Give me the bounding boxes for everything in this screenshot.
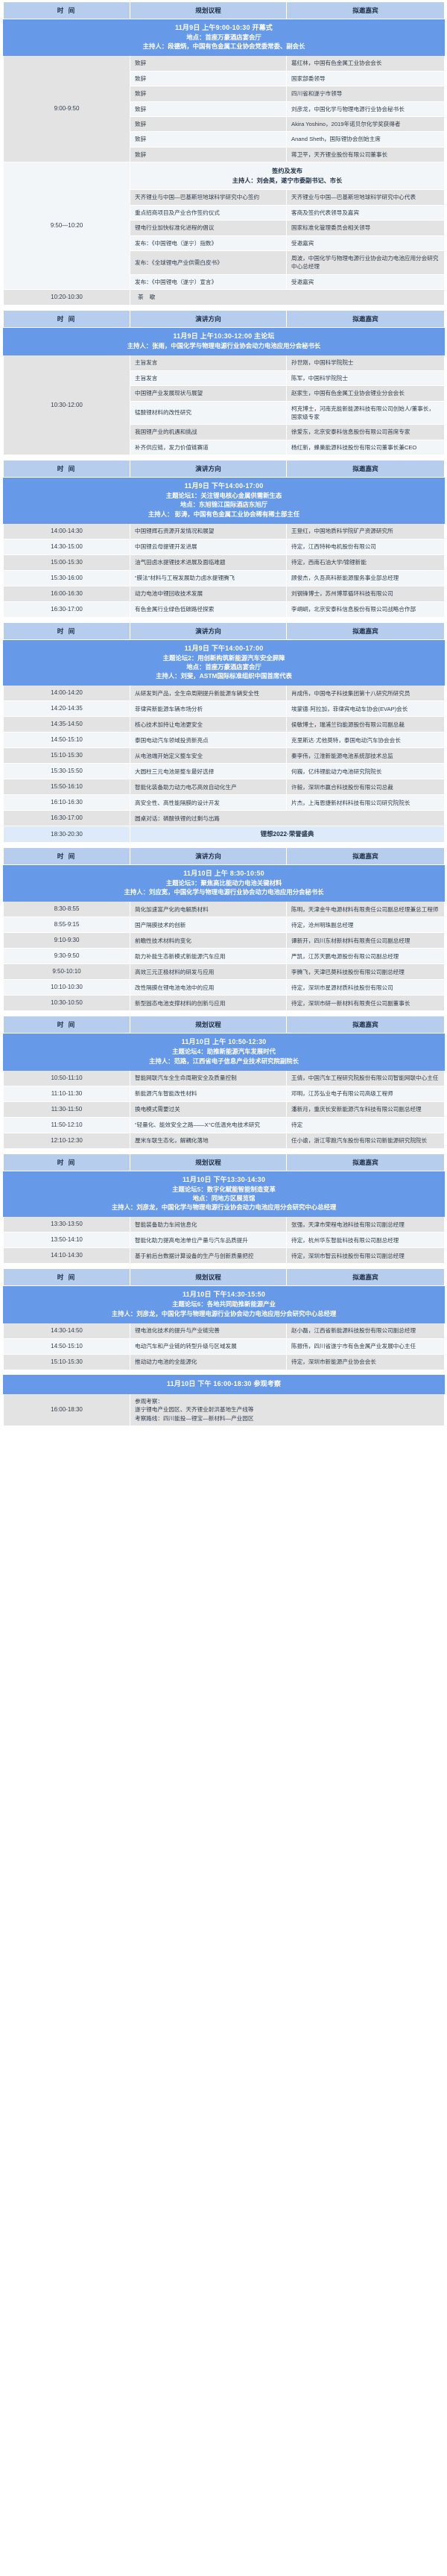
cell-guest: 待定，深圳市智云科技股份有限公司副总经理: [287, 1248, 445, 1264]
table-row: 15:50-16:10 智能化装备助力动力电芯高效自动化生产 许毅，深圳市赢合科…: [4, 779, 445, 795]
cell-guest: 待定: [287, 1117, 445, 1133]
cell-time: 9:50-10:10: [4, 964, 130, 980]
section-table-forum-1: 11月9日 下午14:00-17:00 主题论坛1：关注锂电核心金属供需新生态 …: [3, 460, 445, 618]
table-row: 10:30-12:00 主旨发言 孙世刚，中国科学院院士: [4, 355, 445, 370]
cell-topic: 基于前后台数据计算设备的生产与创新质量把控: [130, 1248, 287, 1264]
cell-guest: 克里斯达·尤他莫特，泰国电动汽车协会会长: [287, 732, 445, 748]
table-row: 16:00-16:30 动力电池中锂回收技术发展 刘钢锋博士，苏州博萃循环科技有…: [4, 586, 445, 601]
section-table-forum-2: 11月9日 下午14:00-17:00 主题论坛2：用创新构筑新能源汽车安全屏障…: [3, 622, 445, 843]
cell-topic: 重点招商项目及产业合作签约仪式: [130, 205, 287, 220]
table-row: 10:10-10:30 改性隔膜在锂电池电池中的应用 待定，深圳市星源材质科技股…: [4, 980, 445, 996]
section-table-forum-4: 11月10日 上午 10:50-12:30 主题论坛4：助推新能源汽车发展时代 …: [3, 1016, 445, 1148]
table-row: 15:10-15:30 推动动力电池的全能源化 待定，深圳市新能源产业协会会长: [4, 1354, 445, 1370]
cell-guest: 张强，天津市荣程电池科技有限公司副总经理: [287, 1217, 445, 1232]
cell-topic: 天齐锂业与中国—巴基斯坦地球科学研究中心签约: [130, 190, 287, 205]
cell-time: 10:50-11:10: [4, 1070, 130, 1086]
cell-time: 16:30-17:00: [4, 601, 130, 617]
column-header-topic: 演讲方向: [130, 461, 287, 478]
section-table-forum-6: 11月10日 下午14:30-15:50 主题论坛6：各地共同助推新能源产业 主…: [3, 1268, 445, 1370]
cell-guest: 潘新月，重庆长安新能源汽车科技有限公司副总经理: [287, 1101, 445, 1117]
cell-guest: 待定，沧州明珠副总经理: [287, 917, 445, 933]
cell-guest: 陈明，天津金牛电源材料有限责任公司副总经理兼总工程师: [287, 902, 445, 917]
cell-topic: 中国锂云母提锂开发进展: [130, 539, 287, 554]
band-line-title: 11月10日 下午 16:00-18:30 参观考察: [8, 1379, 440, 1389]
cell-guest: 待定，杭州华东智能科技有限公司副总经理: [287, 1232, 445, 1248]
band-line-subtitle: 主题论坛6：各地共同助推新能源产业: [8, 1300, 440, 1308]
cell-guest: 任小谕，浙江零跑汽车股份有限公司新能源研究院院长: [287, 1133, 445, 1148]
cell-topic: 换电模式需要过关: [130, 1101, 287, 1117]
cell-guest: 王登红，中国地质科学院矿产资源研究所: [287, 523, 445, 539]
cell-topic: 主旨发言: [130, 355, 287, 370]
column-header-guest: 拟邀嘉宾: [287, 1016, 445, 1034]
cell-topic: 致辞: [130, 147, 287, 162]
column-header-time: 时 间: [4, 622, 130, 639]
cell-time: 14:20-14:35: [4, 701, 130, 717]
cell-guest: 蒋卫平，天齐锂业股份有限公司董事长: [287, 147, 445, 162]
cell-guest: 柯克博士，河南克能新能源科技有限公司创始人/董事长，国家级专家: [287, 401, 445, 425]
cell-time: 9:30-9:50: [4, 949, 130, 964]
cell-guest: 侯敏博士，瑞浦兰钧能源股份有限公司副总裁: [287, 717, 445, 732]
cell-topic: 改性隔膜在锂电池电池中的应用: [130, 980, 287, 996]
band-line-host: 主持人：范路，江西省电子信息产业技术研究院副院长: [8, 1057, 440, 1066]
cell-time: 14:50-15:10: [4, 1338, 130, 1354]
cell-topic: 主旨发言: [130, 370, 287, 385]
cell-time: 15:00-15:30: [4, 554, 130, 570]
band-line-title: 11月10日 上午 8:30-10:50: [8, 869, 440, 879]
cell-topic: 致辞: [130, 71, 287, 86]
band-line-title: 11月9日 上午9:00-10:30 开幕式: [8, 23, 440, 33]
column-header-agenda: 规划议程: [130, 2, 287, 19]
table-row: 15:30-16:00 “膜法”材料与工程发展助力卤水提锂腾飞 顾俊杰，久吾高科…: [4, 570, 445, 586]
section-table-forum-3: 11月10日 上午 8:30-10:50 主题论坛3：聚焦高比能动力电池关键材料…: [3, 847, 445, 1011]
cell-guest: 顾俊杰，久吾高科新能源服务事业部总经理: [287, 570, 445, 586]
cell-topic: 厘米车联生态化，解耦化落地: [130, 1133, 287, 1148]
cell-guest: 待定，深圳市研一新材料有限责任公司副董事长: [287, 996, 445, 1011]
cell-topic: 致辞: [130, 116, 287, 131]
column-header-time: 时 间: [4, 1016, 130, 1034]
table-row: 14:35-14:50 核心技术加持让电池更安全 侯敏博士，瑞浦兰钧能源股份有限…: [4, 717, 445, 732]
band-line-host: 主持人： 彭涛，中国有色金属工业协会稀有稀土部主任: [8, 510, 440, 519]
table-row: 14:20-14:35 菲律宾新能源车辆市场分析 埃蒙德·阿拉加，菲律宾电动车协…: [4, 701, 445, 717]
table-row: 11:30-11:50 换电模式需要过关 潘新月，重庆长安新能源汽车科技有限公司…: [4, 1101, 445, 1117]
cell-topic: 从研发到产品，全生命周期提升新能源车辆安全性: [130, 686, 287, 701]
band-line-subtitle: 主题论坛5：数字化赋能智能制造变革: [8, 1185, 440, 1194]
band-line-subtitle: 主题论坛2：用创新构筑新能源汽车安全屏障: [8, 654, 440, 662]
cell-guest: Akira Yoshino，2019年诺贝尔化学奖获得者: [287, 116, 445, 131]
band-line-host: 主持人：刘彦龙，中国化学与物理电源行业协会动力电池应用分会研究中心总经理: [8, 1203, 440, 1212]
cell-topic: 前瞻性技术材料的变化: [130, 933, 287, 949]
cell-time: 16:00-16:30: [4, 586, 130, 601]
cell-topic: 从电池端开始定义整车安全: [130, 748, 287, 764]
cell-guest: 杨红新，蜂巢能源科技股份有限公司董事长兼CEO: [287, 440, 445, 455]
cell-topic: 智能化助力提高电池单位产量与汽车品质提升: [130, 1232, 287, 1248]
cell-topic: 发布：《中国锂电（遂宁）宣言》: [130, 274, 287, 289]
column-header-guest: 拟邀嘉宾: [287, 1269, 445, 1286]
cell-topic: 发布：《全球锂电产业供需白皮书》: [130, 250, 287, 274]
table-row: 16:30-17:00 圆桌对话：磷酸铁锂的过剩与出路: [4, 811, 445, 826]
cell-topic: 智能化装备助力动力电芯高效自动化生产: [130, 779, 287, 795]
cell-topic: 锂电池化技术的提升与产业链完善: [130, 1323, 287, 1338]
cell-topic: 圆桌对话：磷酸铁锂的过剩与出路: [130, 811, 445, 826]
band-line-venue: 地点：同地方区展览馆: [8, 1194, 440, 1203]
band-line-host: 主持人：刘彦龙，中国化学与物理电源行业协会动力电池应用分会研究中心总经理: [8, 1309, 440, 1318]
cell-guest: 待定，深圳市新能源产业协会会长: [287, 1354, 445, 1370]
band-line-subtitle: 主题论坛4：助推新能源汽车发展时代: [8, 1047, 440, 1056]
table-row: 13:50-14:10 智能化助力提高电池单位产量与汽车品质提升 待定，杭州华东…: [4, 1232, 445, 1248]
column-header-agenda: 规划议程: [130, 1269, 287, 1286]
cell-guest: 孙世刚，中国科学院院士: [287, 355, 445, 370]
cell-topic: 核心技术加持让电池更安全: [130, 717, 287, 732]
cell-guest: 客商及签约代表领导及嘉宾: [287, 205, 445, 220]
table-row: 14:30-14:50 锂电池化技术的提升与产业链完善 赵小磊，江西省新能源科技…: [4, 1323, 445, 1338]
column-header-guest: 拟邀嘉宾: [287, 461, 445, 478]
section-band-site-visit: 11月10日 下午 16:00-18:30 参观考察: [4, 1375, 445, 1393]
cell-topic: “轻量化、能效安全之路——X°C低温充电技术研究: [130, 1117, 287, 1133]
band-line-subtitle: 主题论坛3：聚焦高比能动力电池关键材料: [8, 879, 440, 887]
section-band-forum-6: 11月10日 下午14:30-15:50 主题论坛6：各地共同助推新能源产业 主…: [4, 1286, 445, 1323]
column-header-time: 时 间: [4, 1153, 130, 1171]
cell-time: 14:10-14:30: [4, 1248, 130, 1264]
table-row: 13:30-13:50 智能装备助力车间信息化 张强，天津市荣程电池科技有限公司…: [4, 1217, 445, 1232]
table-row-gala: 18:30-20:30 锂想2022·荣誉盛典: [4, 826, 445, 843]
table-row: 14:00-14:30 中国锂辉石资源开发情况和展望 王登红，中国地质科学院矿产…: [4, 523, 445, 539]
table-row: 9:30-9:50 助力补能生态新模式新能源汽车应用 严凯，江苏天鹏电源股份有限…: [4, 949, 445, 964]
cell-guest: 刘彦龙，中国化学与物理电源行业协会秘书长: [287, 101, 445, 116]
band-line-subtitle: 主题论坛1：关注锂电核心金属供需新生态: [8, 491, 440, 500]
cell-time: 12:10-12:30: [4, 1133, 130, 1148]
cell-guest: 李峒峒，北京安泰科信息股份有限公司战略合作部: [287, 601, 445, 617]
table-row: 14:50-15:10 泰国电动汽车领域投资新亮点 克里斯达·尤他莫特，泰国电动…: [4, 732, 445, 748]
table-row: 9:00-9:50 致辞 葛红林，中国有色金属工业协会会长: [4, 56, 445, 71]
cell-time: 8:55-9:15: [4, 917, 130, 933]
cell-topic: 菲律宾新能源车辆市场分析: [130, 701, 287, 717]
table-row: 10:50-11:10 智能网联汽车全生命周期安全及质量控制 王倩，中国汽车工程…: [4, 1070, 445, 1086]
cell-guest: 待定，西南石油大学/锦锂新能: [287, 554, 445, 570]
cell-guest: 徐爱东，北京安泰科信息股份有限公司首席专家: [287, 425, 445, 440]
cell-time: 9:50—10:20: [4, 162, 130, 290]
table-row: 12:10-12:30 厘米车联生态化，解耦化落地 任小谕，浙江零跑汽车股份有限…: [4, 1133, 445, 1148]
band-line-title: 11月10日 下午13:30-14:30: [8, 1175, 440, 1185]
cell-topic: 简化加速富产化的电解质材料: [130, 902, 287, 917]
cell-topic: 新型固态电池支撑材料的创新与应用: [130, 996, 287, 1011]
cell-topic: 电动汽车和产业链的转型升级与区域发展: [130, 1338, 287, 1354]
column-header-time: 时 间: [4, 847, 130, 864]
band-line-title: 11月9日 下午14:00-17:00: [8, 644, 440, 654]
cell-guest: 邓明，江苏弘业电子有限公司高级工程师: [287, 1086, 445, 1101]
cell-time: 14:30-15:00: [4, 539, 130, 554]
column-header-time: 时 间: [4, 2, 130, 19]
cell-time: 8:30-8:55: [4, 902, 130, 917]
cell-topic: 中国锂辉石资源开发情况和展望: [130, 523, 287, 539]
table-row: 16:30-17:00 有色金属行业绿色低碳路径探索 李峒峒，北京安泰科信息股份…: [4, 601, 445, 617]
column-header-guest: 拟邀嘉宾: [287, 1153, 445, 1171]
table-row: 8:30-8:55 简化加速富产化的电解质材料 陈明，天津金牛电源材料有限责任公…: [4, 902, 445, 917]
cell-time: 14:00-14:30: [4, 523, 130, 539]
cell-topic: 高效三元正极材料的研发与应用: [130, 964, 287, 980]
cell-topic: 锂电行业加快标准化进程的倡议: [130, 221, 287, 235]
table-row: 15:30-15:50 大圆柱三元电池是整车最好选择 何巍，亿纬锂能动力电池研究…: [4, 764, 445, 779]
column-header-time: 时 间: [4, 1269, 130, 1286]
cell-time: 15:50-16:10: [4, 779, 130, 795]
column-header-agenda: 规划议程: [130, 1153, 287, 1171]
section-band-forum-1: 11月9日 下午14:00-17:00 主题论坛1：关注锂电核心金属供需新生态 …: [4, 478, 445, 524]
band-line-host: 主持人：段德炳，中国有色金属工业协会党委常委、副会长: [8, 42, 440, 51]
cell-time: 14:00-14:20: [4, 686, 130, 701]
conference-agenda: 11月9日 上午9:00-10:30 开幕式 地点：首座万豪酒店宴会厅 主持人：…: [0, 0, 447, 1431]
section-table-forum-5: 11月10日 下午13:30-14:30 主题论坛5：数字化赋能智能制造变革 地…: [3, 1153, 445, 1265]
cell-topic: 致辞: [130, 132, 287, 147]
cell-time: 9:10-9:30: [4, 933, 130, 949]
cell-topic: 发布：《中国锂电（遂宁）指数》: [130, 235, 287, 250]
column-header-topic: 演讲方向: [130, 311, 287, 328]
cell-topic: 助力补能生态新模式新能源汽车应用: [130, 949, 287, 964]
column-header-guest: 拟邀嘉宾: [287, 622, 445, 639]
cell-time: 10:30-10:50: [4, 996, 130, 1011]
cell-guest: 天齐锂业与中国—巴基斯坦地球科学研究中心代表: [287, 190, 445, 205]
cell-break-label: 茶 歇: [130, 290, 445, 306]
band-line-title: 11月9日 下午14:00-17:00: [8, 481, 440, 491]
section-band-forum-5: 11月10日 下午13:30-14:30 主题论坛5：数字化赋能智能制造变革 地…: [4, 1171, 445, 1217]
cell-guest: 葛红林，中国有色金属工业协会会长: [287, 56, 445, 71]
cell-topic: 泰国电动汽车领域投资新亮点: [130, 732, 287, 748]
band-line-host: 主持人：刘斐，ASTM国际标准组织中国首席代表: [8, 671, 440, 680]
band-line-title: 11月9日 上午10:30-12:00 主论坛: [8, 332, 440, 341]
cell-time: 14:35-14:50: [4, 717, 130, 732]
cell-guest: 许毅，深圳市赢合科技股份有限公司总裁: [287, 779, 445, 795]
cell-time: 15:30-16:00: [4, 570, 130, 586]
cell-guest: Anand Sheth，国际锂协会创始主席: [287, 132, 445, 147]
cell-topic: 有色金属行业绿色低碳路径探索: [130, 601, 287, 617]
cell-topic: 致辞: [130, 101, 287, 116]
cell-topic: 智能装备助力车间信息化: [130, 1217, 287, 1232]
cell-topic: 我国锂产业的机遇和挑战: [130, 425, 287, 440]
cell-time: 16:30-17:00: [4, 811, 130, 826]
cell-gala-label: 锂想2022·荣誉盛典: [130, 826, 445, 843]
section-table-opening: 11月9日 上午9:00-10:30 开幕式 地点：首座万豪酒店宴会厅 主持人：…: [3, 1, 445, 306]
section-band-opening: 11月9日 上午9:00-10:30 开幕式 地点：首座万豪酒店宴会厅 主持人：…: [4, 19, 445, 56]
table-row: 14:50-15:10 电动汽车和产业链的转型升级与区域发展 陈振伟，四川省遂宁…: [4, 1338, 445, 1354]
section-band-forum-3: 11月10日 上午 8:30-10:50 主题论坛3：聚焦高比能动力电池关键材料…: [4, 864, 445, 901]
cell-topic: 动力电池中锂回收技术发展: [130, 586, 287, 601]
column-header-guest: 拟邀嘉宾: [287, 311, 445, 328]
cell-time: 10:10-10:30: [4, 980, 130, 996]
cell-guest: 受邀嘉宾: [287, 235, 445, 250]
column-header-time: 时 间: [4, 461, 130, 478]
column-header-topic: 演讲方向: [130, 847, 287, 864]
cell-time: 16:10-16:30: [4, 795, 130, 811]
table-row: 15:00-15:30 油气田卤水提锂技术进展及面临难题 待定，西南石油大学/锦…: [4, 554, 445, 570]
cell-topic: 大圆柱三元电池是整车最好选择: [130, 764, 287, 779]
table-row: 11:50-12:10 “轻量化、能效安全之路——X°C低温充电技术研究 待定: [4, 1117, 445, 1133]
cell-time: 13:50-14:10: [4, 1232, 130, 1248]
table-row-break: 10:20-10:30 茶 歇: [4, 290, 445, 306]
table-row: 9:10-9:30 前瞻性技术材料的变化 谭新开，四川东材新材料有限责任公司副总…: [4, 933, 445, 949]
subsection-header-row: 9:50—10:20 签约及发布 主持人：刘会英，遂宁市委副书记、市长: [4, 162, 445, 190]
table-row: 11:10-11:30 新能源汽车智能改性材料 邓明，江苏弘业电子有限公司高级工…: [4, 1086, 445, 1101]
table-row: 14:00-14:20 从研发到产品，全生命周期提升新能源车辆安全性 肖成伟，中…: [4, 686, 445, 701]
cell-guest: 埃蒙德·阿拉加，菲律宾电动车协会(EVAP)会长: [287, 701, 445, 717]
cell-time: 11:10-11:30: [4, 1086, 130, 1101]
cell-time: 18:30-20:30: [4, 826, 130, 843]
cell-topic: 高安全性、高性能隔膜的设计开发: [130, 795, 287, 811]
cell-time: 10:20-10:30: [4, 290, 130, 306]
band-line-title: 11月10日 上午 10:50-12:30: [8, 1037, 440, 1047]
cell-topic: 补齐供应链，发力价值链赛道: [130, 440, 287, 455]
section-band-forum-2: 11月9日 下午14:00-17:00 主题论坛2：用创新构筑新能源汽车安全屏障…: [4, 639, 445, 686]
cell-guest: 待定，江西特种电机股份有限公司: [287, 539, 445, 554]
cell-guest: 何巍，亿纬锂能动力电池研究院院长: [287, 764, 445, 779]
column-header-topic: 演讲方向: [130, 622, 287, 639]
cell-guest: 王倩，中国汽车工程研究院股份有限公司智能网联中心主任: [287, 1070, 445, 1086]
cell-time: 15:30-15:50: [4, 764, 130, 779]
cell-time: 13:30-13:50: [4, 1217, 130, 1232]
cell-topic: 国产隔膜技术的创新: [130, 917, 287, 933]
column-header-time: 时 间: [4, 311, 130, 328]
table-row: 14:10-14:30 基于前后台数据计算设备的生产与创新质量把控 待定，深圳市…: [4, 1248, 445, 1264]
cell-time: 9:00-9:50: [4, 56, 130, 162]
cell-topic: 新能源汽车智能改性材料: [130, 1086, 287, 1101]
cell-topic: 参观考察： 遂宁锂电产业园区、天齐锂业射洪基地生产线等 考察路线：四川能投—锂宝…: [130, 1393, 445, 1425]
section-table-main-forum: 11月9日 上午10:30-12:00 主论坛 主持人：张雨，中国化学与物理电源…: [3, 310, 445, 455]
cell-guest: 谭新开，四川东材新材料有限责任公司副总经理: [287, 933, 445, 949]
band-line-host: 主持人：张雨，中国化学与物理电源行业协会动力电池应用分会秘书长: [8, 341, 440, 350]
cell-topic: 锰酸锂材料的改性研究: [130, 401, 287, 425]
cell-guest: 国家部委领导: [287, 71, 445, 86]
cell-time: 11:30-11:50: [4, 1101, 130, 1117]
table-row: 9:50-10:10 高效三元正极材料的研发与应用 李腾飞，天津巴莫科技股份有限…: [4, 964, 445, 980]
subsection-host: 主持人：刘会英，遂宁市委副书记、市长: [133, 176, 441, 186]
cell-guest: 国家标准化管理委员会相关领导: [287, 221, 445, 235]
table-row: 16:10-16:30 高安全性、高性能隔膜的设计开发 片杰，上海恩捷新材料科技…: [4, 795, 445, 811]
cell-guest: 四川省和遂宁市领导: [287, 86, 445, 101]
cell-time: 15:10-15:30: [4, 748, 130, 764]
cell-topic: 中国锂产业发展现状与展望: [130, 386, 287, 401]
cell-guest: 严凯，江苏天鹏电源股份有限公司副总经理: [287, 949, 445, 964]
band-line-venue: 地点：首座万豪酒店宴会厅: [8, 33, 440, 42]
band-line-venue: 地点：东旭锦江国际酒店东旭厅: [8, 500, 440, 509]
cell-topic: 智能网联汽车全生命周期安全及质量控制: [130, 1070, 287, 1086]
cell-topic: 油气田卤水提锂技术进展及面临难题: [130, 554, 287, 570]
cell-guest: 刘钢锋博士，苏州博萃循环科技有限公司: [287, 586, 445, 601]
cell-guest: 秦李伟，江淮新能源电池系统部技术总监: [287, 748, 445, 764]
table-row: 10:30-10:50 新型固态电池支撑材料的创新与应用 待定，深圳市研一新材料…: [4, 996, 445, 1011]
cell-guest: 陈振伟，四川省遂宁市有色金属产业发展中心主任: [287, 1338, 445, 1354]
cell-guest: 李腾飞，天津巴莫科技股份有限公司副总经理: [287, 964, 445, 980]
subsection-header: 签约及发布 主持人：刘会英，遂宁市委副书记、市长: [130, 162, 445, 190]
column-header-guest: 拟邀嘉宾: [287, 847, 445, 864]
cell-topic: 致辞: [130, 56, 287, 71]
band-line-venue: 地点：首座万豪酒店宴会厅: [8, 662, 440, 671]
cell-topic: 推动动力电池的全能源化: [130, 1354, 287, 1370]
section-table-site-visit: 11月10日 下午 16:00-18:30 参观考察 16:00-18:30 参…: [3, 1375, 445, 1426]
cell-guest: 赵家生，中国有色金属工业协会锂业分会会长: [287, 386, 445, 401]
table-row: 15:10-15:30 从电池端开始定义整车安全 秦李伟，江淮新能源电池系统部技…: [4, 748, 445, 764]
column-header-agenda: 规划议程: [130, 1016, 287, 1034]
subsection-title: 签约及发布: [133, 166, 441, 176]
table-row: 8:55-9:15 国产隔膜技术的创新 待定，沧州明珠副总经理: [4, 917, 445, 933]
cell-guest: 肖成伟，中国电子科技集团第十八研究所研究员: [287, 686, 445, 701]
band-line-title: 11月10日 下午14:30-15:50: [8, 1290, 440, 1300]
cell-time: 10:30-12:00: [4, 355, 130, 455]
cell-time: 11:50-12:10: [4, 1117, 130, 1133]
column-header-guest: 拟邀嘉宾: [287, 2, 445, 19]
cell-guest: 受邀嘉宾: [287, 274, 445, 289]
cell-topic: 致辞: [130, 86, 287, 101]
cell-guest: 赵小磊，江西省新能源科技股份有限公司副总经理: [287, 1323, 445, 1338]
cell-guest: 片杰，上海恩捷新材料科技有限公司研究院院长: [287, 795, 445, 811]
cell-time: 15:10-15:30: [4, 1354, 130, 1370]
cell-time: 16:00-18:30: [4, 1393, 130, 1425]
cell-guest: 周波，中国化学与物理电源行业协会动力电池应用分会研究中心总经理: [287, 250, 445, 274]
band-line-host: 主持人：刘应宽，中国化学与物理电源行业协会动力电池应用分会秘书长: [8, 887, 440, 896]
cell-topic: “膜法”材料与工程发展助力卤水提锂腾飞: [130, 570, 287, 586]
table-row: 16:00-18:30 参观考察： 遂宁锂电产业园区、天齐锂业射洪基地生产线等 …: [4, 1393, 445, 1425]
cell-guest: 陈军，中国科学院院士: [287, 370, 445, 385]
cell-guest: 待定，深圳市星源材质科技股份有限公司: [287, 980, 445, 996]
section-band-forum-4: 11月10日 上午 10:50-12:30 主题论坛4：助推新能源汽车发展时代 …: [4, 1034, 445, 1070]
cell-time: 14:30-14:50: [4, 1323, 130, 1338]
cell-time: 14:50-15:10: [4, 732, 130, 748]
section-band-main-forum: 11月9日 上午10:30-12:00 主论坛 主持人：张雨，中国化学与物理电源…: [4, 328, 445, 355]
table-row: 14:30-15:00 中国锂云母提锂开发进展 待定，江西特种电机股份有限公司: [4, 539, 445, 554]
